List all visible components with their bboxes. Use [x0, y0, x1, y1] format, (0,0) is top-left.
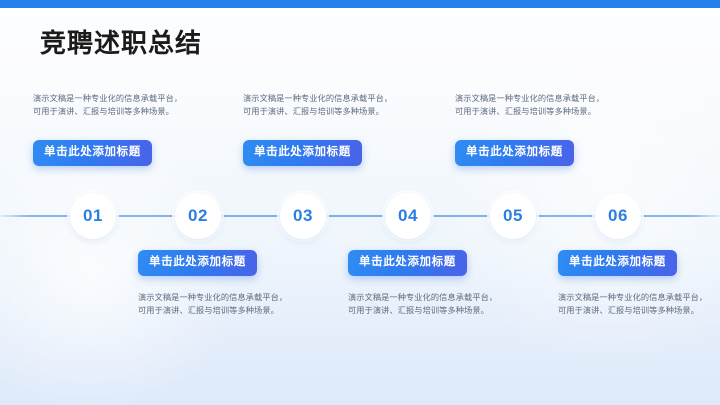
add-title-button[interactable]: 单击此处添加标题	[33, 140, 152, 166]
add-title-button[interactable]: 单击此处添加标题	[348, 250, 467, 276]
add-title-button[interactable]: 单击此处添加标题	[558, 250, 677, 276]
timeline-node-01[interactable]: 01	[70, 193, 116, 239]
timeline-node-label: 04	[398, 206, 418, 226]
add-title-button[interactable]: 单击此处添加标题	[243, 140, 362, 166]
block-paragraph: 演示文稿是一种专业化的信息承载平台，可用于演讲、汇报与培训等多种场景。	[33, 92, 183, 118]
slide-canvas: 竞聘述职总结 01 02 03 04 05 06 演示文稿是一种专业化的信息承载…	[0, 0, 720, 405]
timeline-node-04[interactable]: 04	[385, 193, 431, 239]
block-paragraph: 演示文稿是一种专业化的信息承载平台，可用于演讲、汇报与培训等多种场景。	[558, 291, 708, 317]
add-title-button[interactable]: 单击此处添加标题	[455, 140, 574, 166]
page-title: 竞聘述职总结	[40, 26, 202, 60]
timeline-node-label: 03	[293, 206, 313, 226]
content-block-01: 演示文稿是一种专业化的信息承载平台，可用于演讲、汇报与培训等多种场景。 单击此处…	[33, 92, 209, 166]
block-paragraph: 演示文稿是一种专业化的信息承载平台，可用于演讲、汇报与培训等多种场景。	[348, 291, 498, 317]
timeline-node-label: 06	[608, 206, 628, 226]
block-paragraph: 演示文稿是一种专业化的信息承载平台，可用于演讲、汇报与培训等多种场景。	[138, 291, 288, 317]
timeline-node-label: 01	[83, 206, 103, 226]
top-accent-bar	[0, 0, 720, 8]
content-block-02: 单击此处添加标题 演示文稿是一种专业化的信息承载平台，可用于演讲、汇报与培训等多…	[138, 250, 314, 317]
content-block-05: 演示文稿是一种专业化的信息承载平台，可用于演讲、汇报与培训等多种场景。 单击此处…	[455, 92, 631, 166]
timeline-node-label: 05	[503, 206, 523, 226]
timeline-node-06[interactable]: 06	[595, 193, 641, 239]
block-paragraph: 演示文稿是一种专业化的信息承载平台，可用于演讲、汇报与培训等多种场景。	[243, 92, 393, 118]
content-block-03: 演示文稿是一种专业化的信息承载平台，可用于演讲、汇报与培训等多种场景。 单击此处…	[243, 92, 419, 166]
timeline-node-02[interactable]: 02	[175, 193, 221, 239]
timeline-node-label: 02	[188, 206, 208, 226]
timeline-node-03[interactable]: 03	[280, 193, 326, 239]
add-title-button[interactable]: 单击此处添加标题	[138, 250, 257, 276]
block-paragraph: 演示文稿是一种专业化的信息承载平台，可用于演讲、汇报与培训等多种场景。	[455, 92, 605, 118]
content-block-04: 单击此处添加标题 演示文稿是一种专业化的信息承载平台，可用于演讲、汇报与培训等多…	[348, 250, 524, 317]
timeline-node-05[interactable]: 05	[490, 193, 536, 239]
content-block-06: 单击此处添加标题 演示文稿是一种专业化的信息承载平台，可用于演讲、汇报与培训等多…	[558, 250, 720, 317]
